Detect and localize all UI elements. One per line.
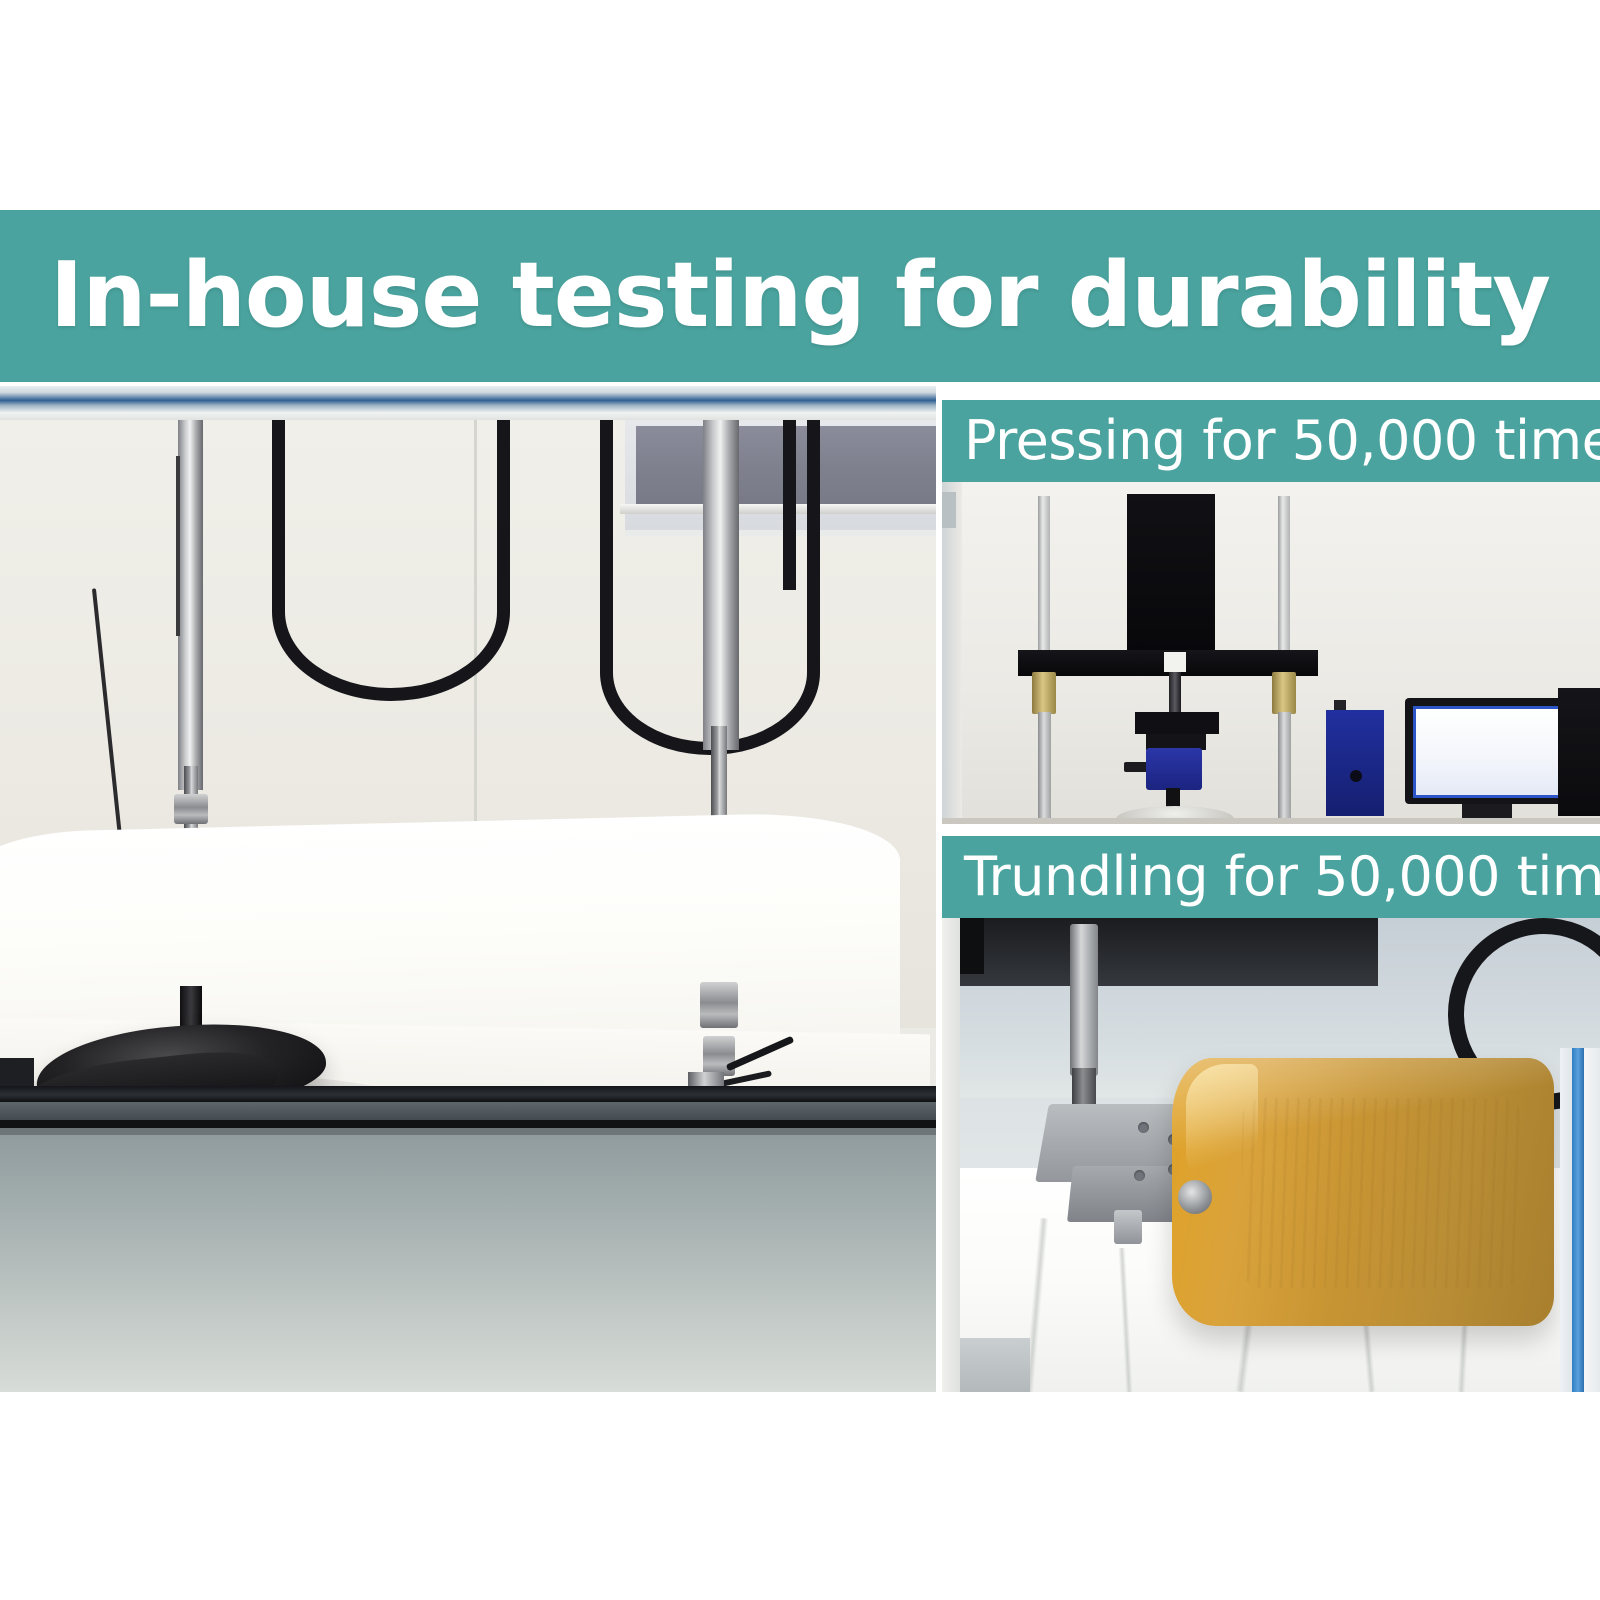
title-banner: In-house testing for durability — [0, 210, 1600, 382]
piston-coupler-right-upper — [700, 982, 738, 1028]
bracket-bolt — [1134, 1170, 1145, 1181]
trundle-dark-machine-body — [958, 918, 1378, 986]
trundle-floor-left — [960, 1338, 1030, 1392]
press-wall-left — [942, 482, 962, 824]
ceiling-rail — [0, 386, 936, 412]
trundle-right-margin — [1584, 1048, 1600, 1392]
durability-testing-infographic: In-house testing for durability — [0, 0, 1600, 1600]
trundle-vertical-column — [1070, 924, 1098, 1076]
secondary-monitor — [1558, 688, 1600, 816]
trundle-column-sleeve — [1072, 1068, 1096, 1108]
piston-cable-upper — [176, 456, 180, 636]
pressing-label-band: Pressing for 50,000 times — [942, 400, 1600, 482]
monitor-screen — [1413, 706, 1565, 798]
press-carriage-block — [1135, 712, 1219, 734]
press-load-cell — [1164, 652, 1186, 672]
bed-frame-bar — [0, 1086, 936, 1102]
press-lower-column-left — [1038, 712, 1051, 824]
roller-wood-grain — [1242, 1098, 1522, 1288]
trundling-label-band: Trundling for 50,000 times — [942, 836, 1600, 918]
pneumatic-hose-right-tail — [783, 420, 796, 590]
pneumatic-hose-left-tail — [272, 420, 285, 480]
trundle-blue-stripe — [1572, 1048, 1584, 1392]
lab-floor — [0, 1128, 936, 1392]
pneumatic-hose-left — [272, 420, 510, 701]
right-photo-column: Pressing for 50,000 times — [942, 386, 1600, 1392]
roller-highlight — [1186, 1064, 1258, 1184]
bracket-bolt — [1138, 1122, 1149, 1133]
lab-floor-edge — [0, 1128, 936, 1135]
piston-cylinder-right — [703, 420, 739, 750]
piston-cylinder-left — [178, 420, 203, 790]
roller-axle-hub — [1178, 1180, 1212, 1214]
press-lower-column-right — [1278, 712, 1291, 824]
trundle-bed-edge — [1560, 1048, 1572, 1392]
press-bench-line — [942, 818, 1600, 824]
trundling-test-photo — [942, 918, 1600, 1392]
pressing-test-photo — [942, 482, 1600, 824]
press-brass-collar-right — [1272, 672, 1296, 714]
bed-frame-shadow — [0, 1120, 936, 1128]
bed-frame-bar-lower — [0, 1102, 936, 1120]
page-title: In-house testing for durability — [50, 251, 1550, 341]
main-durability-test-photo — [0, 386, 936, 1392]
press-wall-left-dark — [942, 492, 956, 528]
press-actuator-tower — [1127, 494, 1215, 654]
ceiling-rail-underside — [0, 412, 936, 420]
piston-coupler-left-upper — [174, 794, 208, 824]
pressing-label: Pressing for 50,000 times — [942, 414, 1600, 468]
press-blue-actuator-head — [1146, 748, 1202, 790]
trundle-dark-machine-edge — [958, 918, 984, 974]
trundling-label: Trundling for 50,000 times — [942, 850, 1600, 904]
trundle-left-panel — [942, 918, 960, 1392]
press-head-arm — [1124, 762, 1148, 772]
blue-control-box — [1326, 710, 1384, 816]
control-box-dial — [1350, 770, 1362, 782]
photo-grid: Pressing for 50,000 times — [0, 386, 1600, 1392]
trundle-clamp — [1114, 1210, 1142, 1244]
press-brass-collar-left — [1032, 672, 1056, 714]
